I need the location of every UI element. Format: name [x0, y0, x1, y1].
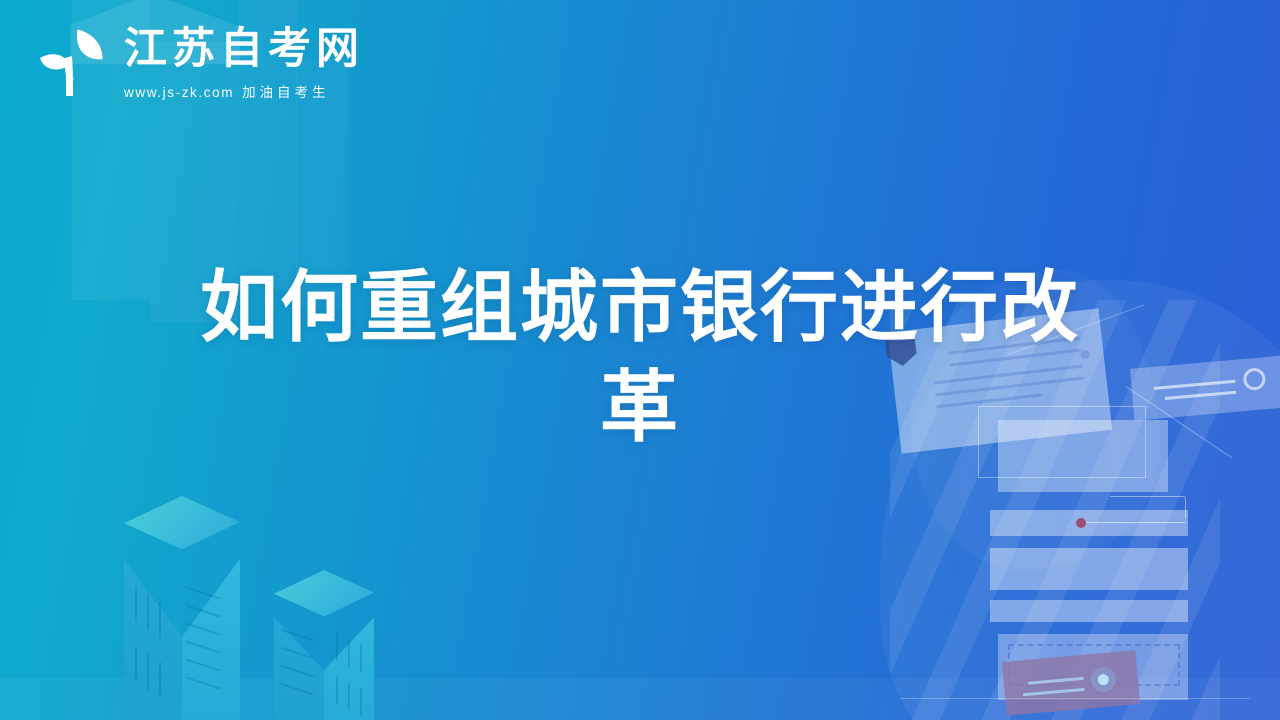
isometric-building-short	[258, 570, 408, 720]
sprout-leaf-icon	[32, 24, 114, 104]
isometric-building-tall	[105, 496, 275, 720]
building-windows-left	[280, 620, 324, 720]
panel-pin-dot	[1076, 518, 1086, 528]
building-windows-right	[185, 562, 241, 702]
banner-hero: 江苏自考网 www.js-zk.com加油自考生 如何重组城市银行进行改革	[0, 0, 1280, 720]
panel-bar-3	[990, 600, 1188, 622]
logo-title: 江苏自考网	[124, 26, 364, 72]
building-roof	[274, 570, 374, 624]
site-logo[interactable]: 江苏自考网 www.js-zk.com加油自考生	[32, 24, 364, 104]
illustration-info-card	[1130, 355, 1280, 420]
logo-subtitle: www.js-zk.com加油自考生	[124, 81, 364, 101]
building-windows-left	[133, 586, 177, 706]
illustration-stacked-panel	[990, 420, 1192, 710]
panel-bar-2	[990, 548, 1188, 590]
panel-pin-line	[1085, 522, 1185, 523]
card-ring-icon	[1242, 367, 1266, 391]
logo-text-block: 江苏自考网 www.js-zk.com加油自考生	[124, 24, 364, 101]
illustration-ground-line	[900, 698, 1250, 699]
id-card-avatar-icon	[1090, 666, 1117, 693]
panel-bar-1	[990, 510, 1188, 536]
logo-slogan: 加油自考生	[242, 85, 330, 100]
illustration-id-card	[1002, 650, 1140, 715]
page-title: 如何重组城市银行进行改革	[180, 258, 1100, 458]
building-roof	[124, 496, 240, 558]
building-windows-right	[334, 632, 378, 720]
logo-url: www.js-zk.com	[124, 85, 234, 100]
